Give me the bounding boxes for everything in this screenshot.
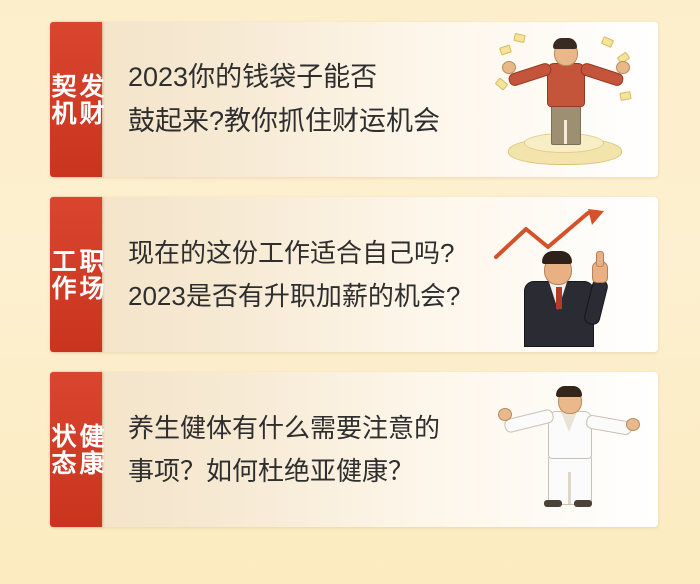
list-item[interactable]: 职场 工作 现在的这份工作适合自己吗? 2023是否有升职加薪的机会? — [50, 197, 658, 352]
card-line-2: 事项？如何杜绝亚健康？ — [128, 457, 440, 486]
card-line-1: 现在的这份工作适合自己吗? — [128, 239, 460, 268]
card-line-1: 2023你的钱袋子能否 — [128, 63, 440, 93]
taichi-man-in-white-outfit-icon — [492, 372, 652, 527]
list-item[interactable]: 发财 契机 2023你的钱袋子能否 鼓起来?教你抓住财运机会 — [50, 22, 658, 177]
card-text-block: 现在的这份工作适合自己吗? 2023是否有升职加薪的机会? — [128, 197, 460, 352]
list-item[interactable]: 健康 状态 养生健体有什么需要注意的 事项？如何杜绝亚健康？ — [50, 372, 658, 527]
man-with-open-arms-on-money-pile-icon — [492, 22, 652, 177]
poster-background: 发财 契机 2023你的钱袋子能否 鼓起来?教你抓住财运机会 — [0, 0, 700, 584]
businessman-pointing-up-with-rising-arrow-icon — [492, 197, 652, 352]
card-text-block: 2023你的钱袋子能否 鼓起来?教你抓住财运机会 — [128, 22, 440, 177]
status-badge-label: 职场 工作 — [48, 248, 104, 302]
status-badge: 职场 工作 — [50, 197, 102, 352]
card-text-block: 养生健体有什么需要注意的 事项？如何杜绝亚健康？ — [128, 372, 440, 527]
status-badge: 发财 契机 — [50, 22, 102, 177]
card-line-2: 鼓起来?教你抓住财运机会 — [128, 107, 440, 137]
status-badge-label: 健康 状态 — [48, 423, 104, 477]
status-badge: 健康 状态 — [50, 372, 102, 527]
card-line-2: 2023是否有升职加薪的机会? — [128, 282, 460, 311]
status-badge-label: 发财 契机 — [48, 73, 104, 127]
card-line-1: 养生健体有什么需要注意的 — [128, 414, 440, 443]
